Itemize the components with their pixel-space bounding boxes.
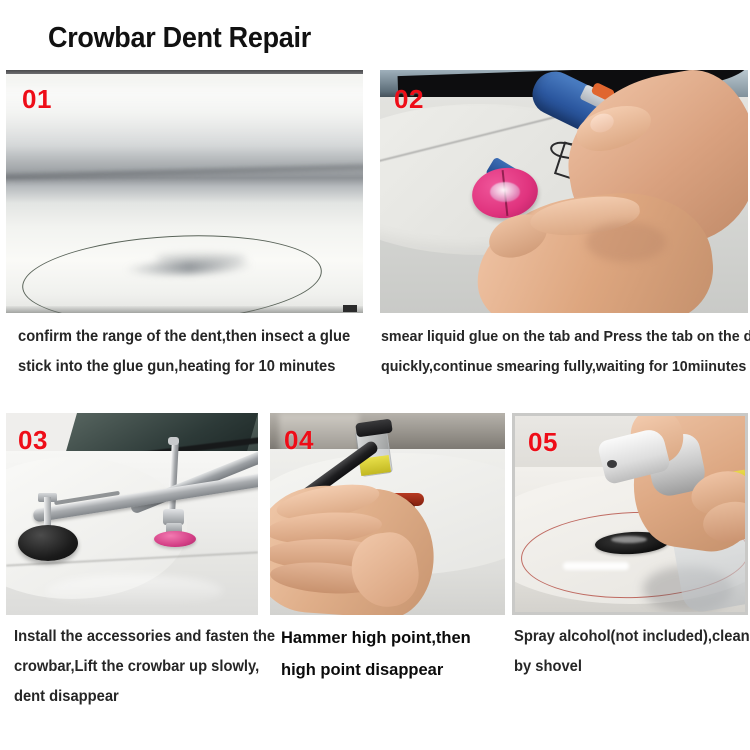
step-image-01: 01 — [6, 70, 363, 313]
step-image-04: 04 — [270, 413, 505, 615]
step-image-02: 02 — [380, 70, 748, 313]
rubber-foot-pad — [18, 525, 78, 561]
pink-puller-tab — [154, 531, 196, 547]
page-title: Crowbar Dent Repair — [48, 22, 311, 55]
step-caption-04: Hammer high point,then high point disapp… — [281, 622, 511, 686]
step-caption-05: Spray alcohol(not included),cleaning by … — [514, 622, 748, 682]
step-caption-02: smear liquid glue on the tab and Press t… — [381, 322, 747, 382]
step-badge-03: 03 — [18, 425, 48, 456]
step-photo-01 — [6, 70, 363, 313]
step-badge-02: 02 — [394, 84, 424, 115]
step-badge-01: 01 — [22, 84, 52, 115]
step-caption-03: Install the accessories and fasten the c… — [14, 622, 264, 712]
step-badge-05: 05 — [528, 427, 558, 458]
step-badge-04: 04 — [284, 425, 314, 456]
step-image-05: 05 — [512, 413, 748, 615]
step-image-03: 03 — [6, 413, 258, 615]
step-caption-01: confirm the range of the dent,then insec… — [18, 322, 370, 382]
step-photo-02 — [380, 70, 748, 313]
